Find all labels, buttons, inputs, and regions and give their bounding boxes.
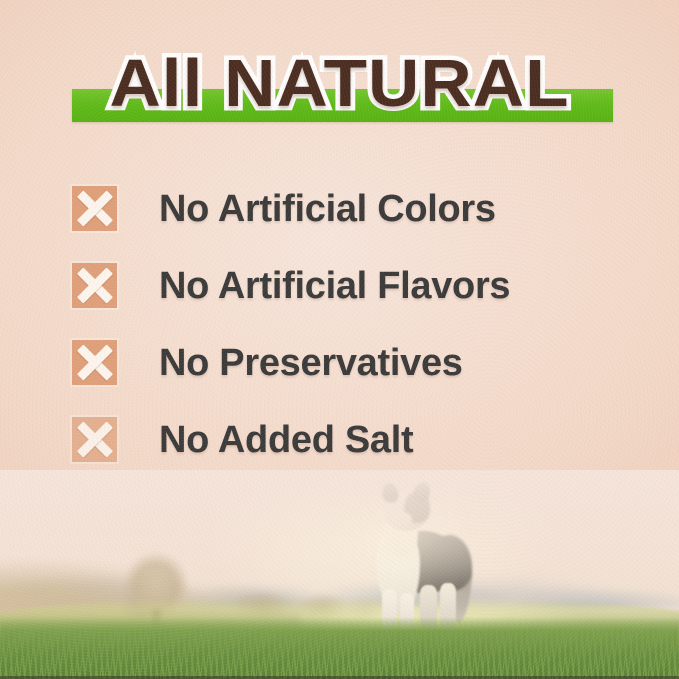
claim-label: No Artificial Flavors (159, 265, 510, 307)
lifestyle-photo (0, 470, 679, 679)
list-item: No Preservatives (0, 324, 679, 401)
claim-label: No Preservatives (159, 342, 463, 384)
claims-list: No Artificial Colors No Artificial Flavo… (0, 170, 679, 478)
list-item: No Artificial Flavors (0, 247, 679, 324)
page-title: All NATURAL (0, 46, 679, 122)
list-item: No Added Salt (0, 401, 679, 478)
claim-label: No Artificial Colors (159, 188, 496, 230)
x-mark-icon (72, 340, 117, 385)
x-mark-icon (72, 186, 117, 231)
list-item: No Artificial Colors (0, 170, 679, 247)
grass-tufts (0, 621, 679, 679)
product-claims-banner: All NATURAL No Artificial Colors No Arti… (0, 0, 679, 679)
x-mark-icon (72, 263, 117, 308)
x-mark-icon (72, 417, 117, 462)
headline-banner: All NATURAL (0, 46, 679, 130)
dog-snout (392, 512, 412, 528)
claim-label: No Added Salt (159, 419, 413, 461)
